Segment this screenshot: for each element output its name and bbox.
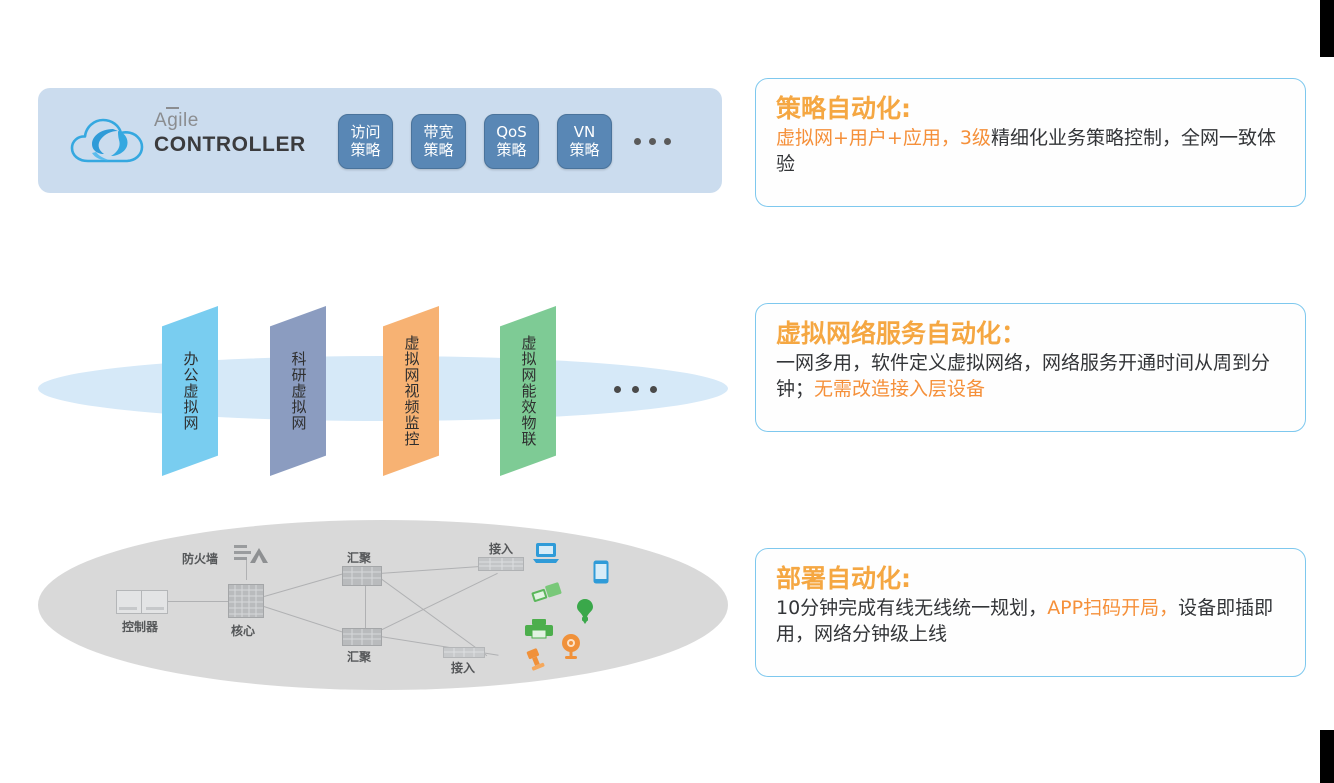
virtual-network-service-automation-card: 虚拟网络服务自动化： 一网多用，软件定义虚拟网络，网络服务开通时间从周到分钟；无… <box>755 303 1306 432</box>
policy-chip-bandwidth[interactable]: 带宽 策略 <box>411 114 466 169</box>
core-switch-node[interactable]: 核心 <box>228 584 264 623</box>
policy-chip-qos[interactable]: QoS 策略 <box>484 114 539 169</box>
aggregation-switch-lower[interactable]: 汇聚 <box>342 628 382 651</box>
ip-camera-icon <box>558 633 584 664</box>
deployment-automation-card-body: 10分钟完成有线无线统一规划，APP扫码开局，设备即插即用，网络分钟级上线 <box>776 595 1287 647</box>
access-switch-lower[interactable]: 接入 <box>443 645 485 663</box>
virtual-network-more-ellipsis-icon[interactable] <box>614 386 657 393</box>
vn-service-card-highlight: 无需改造接入层设备 <box>814 378 985 400</box>
printer-icon <box>524 618 554 645</box>
laptop-icon <box>532 542 560 569</box>
slab-label-video-main: 视频监控 <box>403 383 420 447</box>
deployment-card-lead: 10分钟完成有线无线统一规划， <box>776 597 1047 619</box>
access-switch-lower-label: 接入 <box>451 659 475 676</box>
access-switch-upper-label: 接入 <box>489 540 513 557</box>
policy-chip-qos-line2: 策略 <box>496 141 526 159</box>
ellipsis-dot <box>649 138 656 145</box>
ellipsis-dot <box>634 138 641 145</box>
policy-chip-bandwidth-line2: 策略 <box>423 141 453 159</box>
access-switch-upper[interactable]: 接入 <box>478 557 524 576</box>
policy-chip-qos-line1: QoS <box>496 123 527 141</box>
handheld-terminal-icon <box>524 648 548 677</box>
virtual-network-slab-office[interactable]: 办公虚拟网 <box>162 306 218 476</box>
policy-automation-card-highlight: 虚拟网+用户+应用，3级 <box>776 127 991 149</box>
policy-automation-card-body: 虚拟网+用户+应用，3级精细化业务策略控制，全网一致体验 <box>776 125 1287 177</box>
firewall-node-label: 防火墙 <box>182 550 218 567</box>
policy-chip-access-line2: 策略 <box>350 141 380 159</box>
barcode-scanner-icon <box>530 582 564 609</box>
policy-chip-access-line1: 访问 <box>350 123 380 141</box>
ellipsis-dot <box>614 386 621 393</box>
deployment-card-highlight: APP扫码开局， <box>1047 597 1178 619</box>
slab-label-energy-main: 能效物联 <box>520 383 537 447</box>
controller-node[interactable]: 控制器 <box>116 590 168 619</box>
logo-a: A <box>154 110 167 131</box>
light-bulb-icon <box>576 598 594 629</box>
agile-controller-banner: Agile CONTROLLER 访问 策略 带宽 策略 QoS 策略 VN 策… <box>38 88 722 193</box>
virtual-network-stage: 办公虚拟网 科研虚拟网 视频监控 虚拟网 能效物联 虚拟网 <box>0 296 745 496</box>
right-edge-bar-bottom <box>1320 730 1334 783</box>
slab-label-video-surveillance: 视频监控 虚拟网 <box>403 335 420 447</box>
slab-label-research: 科研虚拟网 <box>290 351 307 431</box>
virtual-network-slab-energy-iot[interactable]: 能效物联 虚拟网 <box>500 306 556 476</box>
slab-label-energy-iot: 能效物联 虚拟网 <box>520 335 537 447</box>
logo-line-controller: CONTROLLER <box>154 132 306 158</box>
deployment-automation-card: 部署自动化: 10分钟完成有线无线统一规划，APP扫码开局，设备即插即用，网络分… <box>755 548 1306 677</box>
policy-chip-bandwidth-line1: 带宽 <box>423 123 453 141</box>
aggregation-switch-upper[interactable]: 汇聚 <box>342 566 382 591</box>
agile-controller-logo: Agile CONTROLLER <box>68 110 318 172</box>
logo-g-macron: g <box>167 110 178 131</box>
policy-chip-access[interactable]: 访问 策略 <box>338 114 393 169</box>
diagram-left-column: Agile CONTROLLER 访问 策略 带宽 策略 QoS 策略 VN 策… <box>0 0 745 783</box>
policy-chip-vn-line1: VN <box>574 123 595 141</box>
virtual-network-slab-video-surveillance[interactable]: 视频监控 虚拟网 <box>383 306 439 476</box>
virtual-network-service-automation-card-body: 一网多用，软件定义虚拟网络，网络服务开通时间从周到分钟；无需改造接入层设备 <box>776 350 1287 402</box>
controller-node-label: 控制器 <box>122 618 158 635</box>
logo-line-agile: Agile <box>154 110 306 132</box>
cloud-swirl-icon <box>68 115 146 167</box>
policy-automation-card: 策略自动化: 虚拟网+用户+应用，3级精细化业务策略控制，全网一致体验 <box>755 78 1306 207</box>
policy-automation-card-title: 策略自动化: <box>776 93 1287 124</box>
tablet-icon <box>593 560 609 589</box>
virtual-network-service-automation-card-title: 虚拟网络服务自动化： <box>776 318 1287 349</box>
policy-more-ellipsis-icon[interactable] <box>634 138 671 145</box>
virtual-network-slab-research[interactable]: 科研虚拟网 <box>270 306 326 476</box>
core-switch-node-label: 核心 <box>231 622 255 639</box>
agile-controller-wordmark: Agile CONTROLLER <box>154 110 306 158</box>
aggregation-switch-upper-label: 汇聚 <box>347 549 371 566</box>
policy-chip-vn-line2: 策略 <box>569 141 599 159</box>
right-edge-bar-top <box>1320 0 1334 57</box>
policy-chip-row: 访问 策略 带宽 策略 QoS 策略 VN 策略 <box>338 104 671 178</box>
deployment-topology-diagram: 控制器 防火墙 核心 <box>38 520 728 690</box>
logo-ile: ile <box>178 110 199 131</box>
ellipsis-dot <box>650 386 657 393</box>
slab-label-energy-sub: 虚拟网 <box>520 335 537 383</box>
policy-chip-vn[interactable]: VN 策略 <box>557 114 612 169</box>
firewall-node[interactable]: 防火墙 <box>234 542 268 573</box>
slab-label-video-sub: 虚拟网 <box>403 335 420 383</box>
link-controller-core <box>166 601 236 602</box>
ellipsis-dot <box>664 138 671 145</box>
aggregation-switch-lower-label: 汇聚 <box>347 648 371 665</box>
deployment-automation-card-title: 部署自动化: <box>776 563 1287 594</box>
ellipsis-dot <box>632 386 639 393</box>
slab-label-office: 办公虚拟网 <box>182 351 199 431</box>
